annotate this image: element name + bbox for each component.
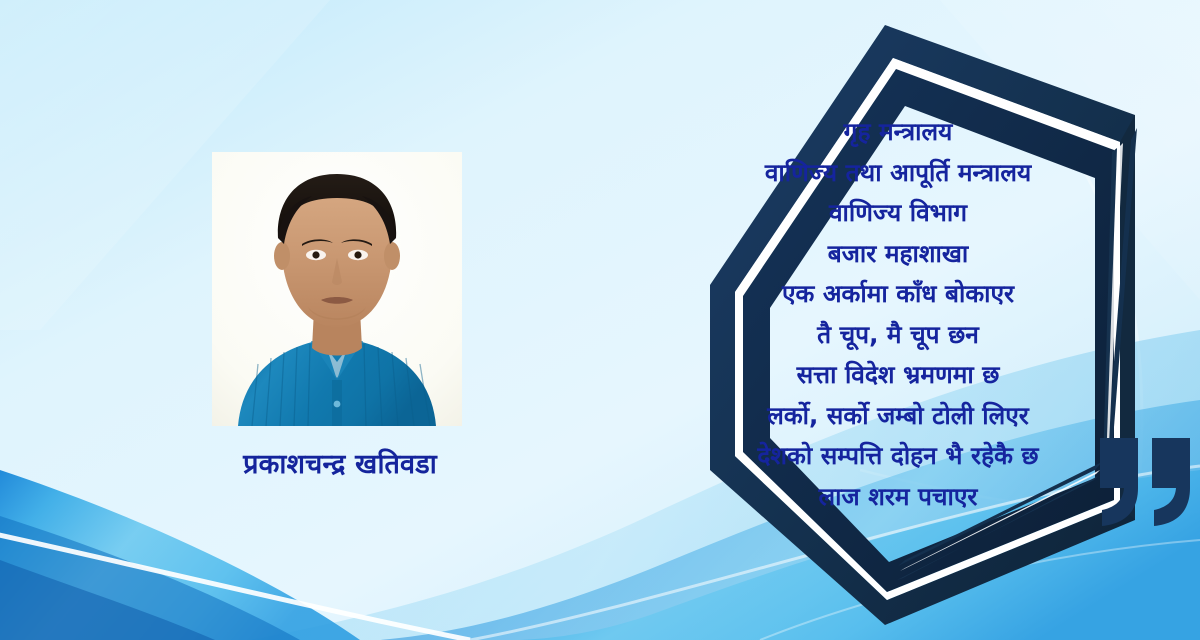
quote-line-8: लर्को, सर्को जम्बो टोली लिएर xyxy=(618,396,1178,437)
quote-line-4: बजार महाशाखा xyxy=(618,234,1178,275)
poster-canvas: प्रकाशचन्द्र खतिवडा xyxy=(0,0,1200,640)
portrait-caption: प्रकाशचन्द्र खतिवडा xyxy=(150,444,530,481)
quote-line-6: तै चूप, मै चूप छन xyxy=(618,315,1178,356)
quote-line-5: एक अर्कामा काँध बोकाएर xyxy=(618,274,1178,315)
closing-quote-icon xyxy=(1098,436,1194,528)
quote-line-2: वाणिज्य तथा आपूर्ति मन्त्रालय xyxy=(618,153,1178,194)
quote-line-3: वाणिज्य विभाग xyxy=(618,193,1178,234)
quote-line-7: सत्ता विदेश भ्रमणमा छ xyxy=(618,355,1178,396)
quote-line-10: लाज शरम पचाएर xyxy=(618,477,1178,518)
quote-line-1: गृह मन्त्रालय xyxy=(618,112,1178,153)
portrait-photo xyxy=(212,152,462,426)
portrait-photo-frame xyxy=(212,152,462,426)
quote-line-9: देशको सम्पत्ति दोहन भै रहेकै छ xyxy=(618,436,1178,477)
quote-text-block: गृह मन्त्रालय वाणिज्य तथा आपूर्ति मन्त्र… xyxy=(618,112,1178,517)
